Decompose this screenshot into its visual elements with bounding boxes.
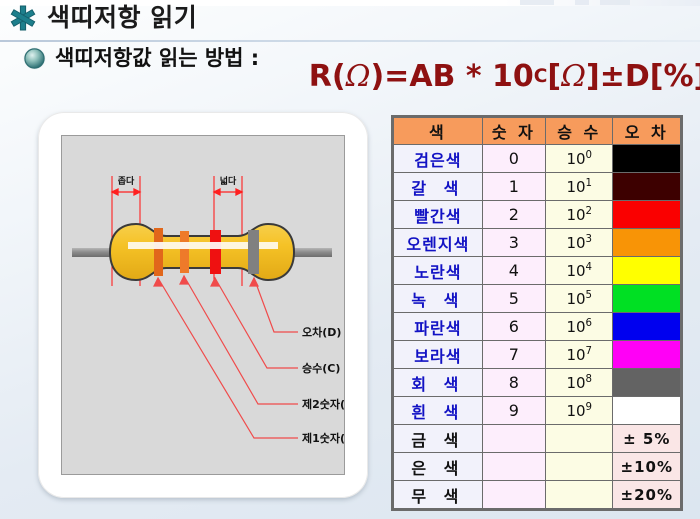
table-row: 오렌지색3103 (394, 229, 681, 257)
sphere-bullet-icon (22, 46, 47, 71)
multiplier-exponent: 9 (586, 402, 592, 413)
cell-tolerance: ±10% (613, 453, 681, 481)
cell-color-name: 금 색 (394, 425, 483, 453)
cell-color-name: 회 색 (394, 369, 483, 397)
cell-multiplier: 100 (545, 145, 613, 173)
cell-multiplier: 103 (545, 229, 613, 257)
multiplier-base: 10 (566, 234, 585, 252)
cell-digit: 3 (482, 229, 545, 257)
header-tolerance: 오 차 (613, 118, 681, 145)
cell-color-swatch (613, 285, 681, 313)
cell-color-name: 빨간색 (394, 201, 483, 229)
cell-digit (482, 453, 545, 481)
band-gloss-3 (210, 242, 221, 249)
band-gloss-1 (154, 242, 163, 249)
cell-multiplier: 102 (545, 201, 613, 229)
illustration-panel: 좁다 넓다 (38, 112, 368, 498)
multiplier-base: 10 (566, 374, 585, 392)
band-tolerance (248, 230, 259, 274)
table-row: 녹 색5105 (394, 285, 681, 313)
header-multiplier: 승 수 (545, 118, 613, 145)
cell-tolerance: ± 5% (613, 425, 681, 453)
cell-color-name: 파란색 (394, 313, 483, 341)
cell-color-swatch (613, 173, 681, 201)
multiplier-exponent: 3 (586, 234, 592, 245)
multiplier-base: 10 (566, 178, 585, 196)
multiplier-exponent: 7 (586, 346, 592, 357)
multiplier-exponent: 0 (586, 150, 592, 161)
table-header-row: 색 숫 자 승 수 오 차 (394, 118, 681, 145)
multiplier-base: 10 (566, 318, 585, 336)
asterisk-icon (8, 3, 38, 33)
cell-color-swatch (613, 229, 681, 257)
multiplier-exponent: 2 (586, 206, 592, 217)
cell-multiplier: 108 (545, 369, 613, 397)
cell-color-name: 무 색 (394, 481, 483, 509)
table-row: 금 색± 5% (394, 425, 681, 453)
formula-exponent: C (534, 66, 548, 87)
table-row: 보라색7107 (394, 341, 681, 369)
cell-multiplier (545, 453, 613, 481)
table-body: 검은색0100갈 색1101빨간색2102오렌지색3103노란색4104녹 색5… (394, 145, 681, 509)
top-ghost-b (575, 0, 589, 5)
cell-color-swatch (613, 341, 681, 369)
cell-digit: 6 (482, 313, 545, 341)
cell-color-name: 은 색 (394, 453, 483, 481)
table-row: 노란색4104 (394, 257, 681, 285)
dimension-label-wide: 넓다 (220, 175, 237, 187)
cell-multiplier: 107 (545, 341, 613, 369)
multiplier-exponent: 6 (586, 318, 592, 329)
cell-digit: 9 (482, 397, 545, 425)
resistor-diagram: 좁다 넓다 (62, 136, 344, 474)
formula-tail: D[%] (625, 59, 700, 94)
multiplier-exponent: 5 (586, 290, 592, 301)
cell-color-swatch (613, 257, 681, 285)
band-second-digit (180, 231, 189, 273)
subtitle: 색띠저항값 읽는 방법 : (55, 46, 259, 71)
table-row: 은 색±10% (394, 453, 681, 481)
illustration-inner-panel: 좁다 넓다 (61, 135, 345, 475)
formula-mid: )=AB * 10 (370, 59, 533, 94)
resistor-lead-left (72, 248, 112, 257)
resistor-body (110, 224, 294, 280)
multiplier-base: 10 (566, 262, 585, 280)
omega-symbol-1: Ω (346, 59, 371, 94)
band-multiplier (210, 230, 221, 274)
cell-color-name: 오렌지색 (394, 229, 483, 257)
callout-second-digit: 제2숫자(B) (302, 397, 344, 411)
formula-bracket-close: ] (586, 59, 600, 94)
callout-tolerance: 오차(D) (302, 325, 341, 339)
table-row: 갈 색1101 (394, 173, 681, 201)
cell-digit: 0 (482, 145, 545, 173)
plus-minus-symbol: ± (600, 59, 625, 94)
multiplier-base: 10 (566, 346, 585, 364)
cell-color-swatch (613, 145, 681, 173)
subtitle-row: 색띠저항값 읽는 방법 : (22, 46, 259, 71)
cell-digit (482, 481, 545, 509)
multiplier-exponent: 1 (586, 178, 592, 189)
resistance-formula: R(Ω)=AB * 10C [Ω] ± D[%] (322, 55, 694, 97)
table-row: 흰 색9109 (394, 397, 681, 425)
dimension-label-narrow: 좁다 (118, 175, 135, 187)
table-row: 무 색±20% (394, 481, 681, 509)
omega-symbol-2: Ω (561, 59, 586, 94)
cell-digit: 5 (482, 285, 545, 313)
cell-digit (482, 425, 545, 453)
cell-digit: 4 (482, 257, 545, 285)
callout-leaders (158, 276, 298, 438)
table-row: 빨간색2102 (394, 201, 681, 229)
cell-multiplier: 101 (545, 173, 613, 201)
cell-tolerance: ±20% (613, 481, 681, 509)
cell-color-name: 보라색 (394, 341, 483, 369)
table-row: 검은색0100 (394, 145, 681, 173)
formula-bracket-open: [ (547, 59, 561, 94)
cell-color-name: 녹 색 (394, 285, 483, 313)
cell-color-swatch (613, 201, 681, 229)
page-title: 색띠저항 읽기 (47, 3, 197, 33)
color-code-table: 색 숫 자 승 수 오 차 검은색0100갈 색1101빨간색2102오렌지색3… (393, 117, 681, 509)
cell-color-swatch (613, 369, 681, 397)
table-row: 회 색8108 (394, 369, 681, 397)
multiplier-exponent: 4 (586, 262, 592, 273)
cell-multiplier: 104 (545, 257, 613, 285)
band-first-digit (154, 228, 163, 276)
color-code-table-wrapper: 색 숫 자 승 수 오 차 검은색0100갈 색1101빨간색2102오렌지색3… (391, 115, 683, 511)
formula-prefix: R( (309, 59, 346, 94)
cell-digit: 2 (482, 201, 545, 229)
band-gloss-2 (180, 242, 189, 249)
cell-digit: 1 (482, 173, 545, 201)
cell-color-name: 검은색 (394, 145, 483, 173)
page-title-row: 색띠저항 읽기 (8, 3, 197, 33)
multiplier-base: 10 (566, 402, 585, 420)
cell-color-name: 갈 색 (394, 173, 483, 201)
multiplier-base: 10 (566, 206, 585, 224)
multiplier-base: 10 (566, 290, 585, 308)
header-color: 색 (394, 118, 483, 145)
header-digit: 숫 자 (482, 118, 545, 145)
dimension-arrows (112, 189, 242, 195)
cell-color-name: 노란색 (394, 257, 483, 285)
cell-multiplier (545, 425, 613, 453)
cell-color-swatch (613, 313, 681, 341)
cell-multiplier: 109 (545, 397, 613, 425)
cell-color-swatch (613, 397, 681, 425)
multiplier-base: 10 (566, 150, 585, 168)
multiplier-exponent: 8 (586, 374, 592, 385)
top-ghost-a (520, 0, 554, 5)
table-row: 파란색6106 (394, 313, 681, 341)
top-ghost-c (600, 0, 630, 5)
cell-digit: 7 (482, 341, 545, 369)
title-divider (0, 40, 700, 42)
cell-multiplier: 105 (545, 285, 613, 313)
cell-color-name: 흰 색 (394, 397, 483, 425)
callout-multiplier: 승수(C) (302, 362, 340, 375)
cell-multiplier: 106 (545, 313, 613, 341)
callout-first-digit: 제1숫자(A) (302, 431, 344, 445)
cell-multiplier (545, 481, 613, 509)
cell-digit: 8 (482, 369, 545, 397)
